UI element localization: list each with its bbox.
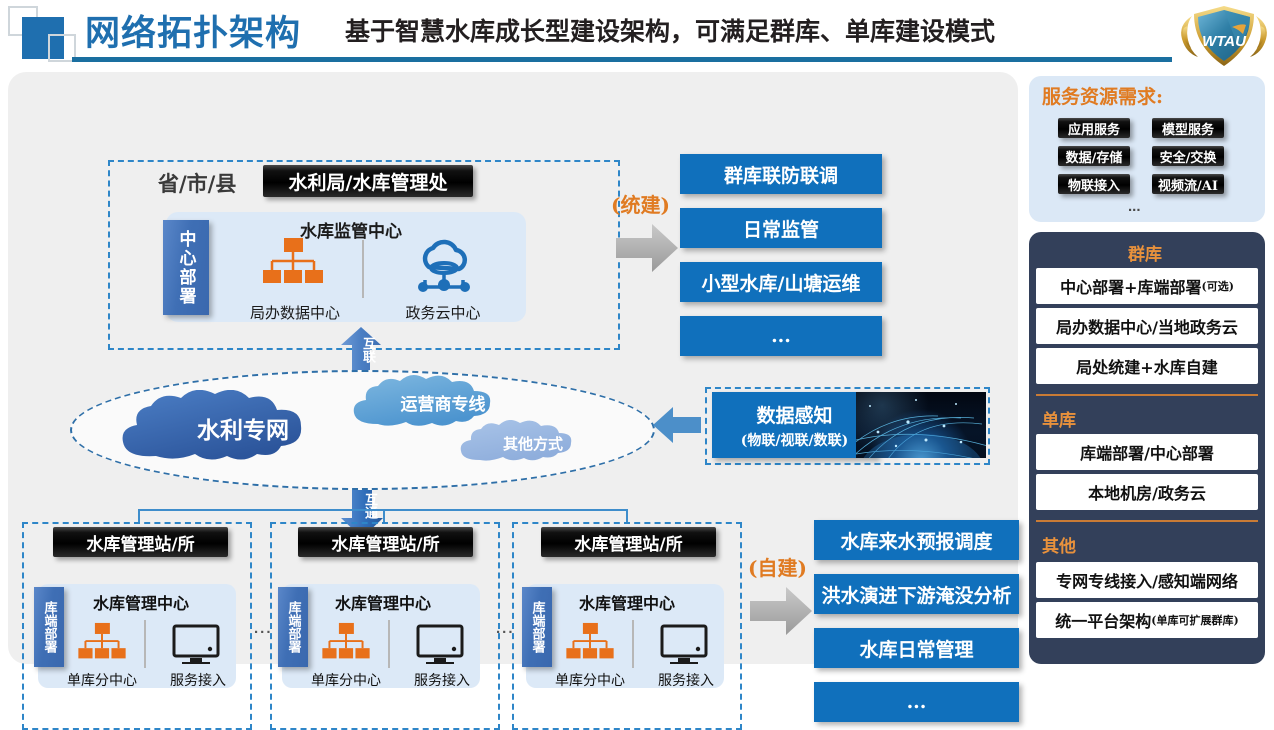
page-header: 网络拓扑架构 基于智慧水库成长型建设架构，可满足群库、单库建设模式 WTAU (0, 0, 1274, 70)
data-flow-arrow-left (653, 407, 701, 443)
mode-group-row-0-text: 中心部署+库端部署 (1060, 274, 1201, 298)
water-bureau-bar: 水利局/水库管理处 (263, 165, 473, 197)
mode-other-row-1-note: (单库可扩展群库) (1151, 612, 1238, 628)
resource-chip-5[interactable]: 视频流/AI (1152, 174, 1224, 194)
center-deployment-tag: 中心部署 (163, 220, 209, 315)
resource-more-dots: ... (1128, 198, 1141, 215)
station-caption-left-3: 单库分中心 (540, 670, 640, 690)
admin-level-label: 省/市/县 (158, 168, 236, 198)
page-title: 网络拓扑架构 (85, 5, 301, 56)
mode-group-row-2-text: 局处统建+水库自建 (1076, 354, 1217, 378)
selfbuilt-item-1[interactable]: 洪水演进下游淹没分析 (814, 574, 1019, 614)
station-caption-right-1: 服务接入 (148, 670, 248, 690)
mode-other-row-1-text: 统一平台架构 (1055, 608, 1151, 632)
globe-network-image (856, 392, 986, 458)
station-deploy-tag-1: 库端部署 (34, 587, 64, 667)
station-divider-2 (388, 620, 390, 668)
station-bar-3: 水库管理站/所 (541, 527, 716, 557)
resource-chip-4[interactable]: 物联接入 (1058, 174, 1130, 194)
station-gap-dots-2: ... (496, 620, 515, 637)
data-sensing-box: 数据感知 (物联/视联/数联) (712, 392, 877, 458)
unified-build-label: (统建) (611, 189, 670, 218)
resource-chip-3[interactable]: 安全/交换 (1152, 146, 1224, 166)
service-access-monitor-icon-1 (172, 624, 220, 666)
service-access-monitor-icon-2 (416, 624, 464, 666)
mode-other-row-0[interactable]: 专网专线接入/感知端网络 (1036, 562, 1258, 598)
mode-group-row-1-text: 局办数据中心/当地政务云 (1056, 314, 1238, 338)
unified-build-arrow (616, 224, 678, 272)
data-sensing-title: 数据感知 (756, 401, 832, 428)
station-caption-left-1: 单库分中心 (52, 670, 152, 690)
station-caption-left-2: 单库分中心 (296, 670, 396, 690)
resource-chip-2[interactable]: 数据/存储 (1058, 146, 1130, 166)
mode-separator-2 (1036, 520, 1258, 522)
mode-separator-1 (1036, 394, 1258, 396)
station-divider-1 (144, 620, 146, 668)
bus-drop-2 (383, 509, 385, 523)
cloud-label-other-mode: 其他方式 (463, 427, 603, 460)
resource-chip-1[interactable]: 模型服务 (1152, 118, 1224, 138)
unified-item-2[interactable]: 小型水库/山塘运维 (680, 262, 882, 302)
selfbuilt-item-2[interactable]: 水库日常管理 (814, 628, 1019, 668)
mode-group-row-1[interactable]: 局办数据中心/当地政务云 (1036, 308, 1258, 344)
mode-group-row-2[interactable]: 局处统建+水库自建 (1036, 348, 1258, 384)
resource-chip-0[interactable]: 应用服务 (1058, 118, 1130, 138)
mode-single-row-0[interactable]: 库端部署/中心部署 (1036, 434, 1258, 470)
station-caption-right-2: 服务接入 (392, 670, 492, 690)
station-title-2: 水库管理中心 (308, 590, 458, 614)
cloud-label-operator-line: 运营商专线 (353, 382, 533, 422)
mode-other-row-0-text: 专网专线接入/感知端网络 (1056, 568, 1238, 592)
station-title-3: 水库管理中心 (552, 590, 702, 614)
unified-item-1[interactable]: 日常监管 (680, 208, 882, 248)
gov-cloud-icon (413, 237, 475, 297)
station-divider-3 (632, 620, 634, 668)
bus-drop-1 (138, 509, 140, 523)
station-deploy-tag-3: 库端部署 (522, 587, 552, 667)
unified-item-3[interactable]: ... (680, 316, 882, 356)
self-build-label: (自建) (748, 552, 807, 581)
station-gap-dots-1: ... (254, 620, 273, 637)
selfbuilt-item-0[interactable]: 水库来水预报调度 (814, 520, 1019, 560)
sub-center-org-icon-1 (76, 622, 128, 668)
logo-text: WTAU (1202, 33, 1247, 50)
mode-heading-other: 其他 (1042, 532, 1076, 557)
page-subtitle: 基于智慧水库成长型建设架构，可满足群库、单库建设模式 (345, 12, 995, 48)
mode-group-row-0[interactable]: 中心部署+库端部署 (可选) (1036, 268, 1258, 304)
station-deploy-tag-2: 库端部署 (278, 587, 308, 667)
mode-single-row-1[interactable]: 本地机房/政务云 (1036, 474, 1258, 510)
supervision-divider (362, 240, 364, 298)
title-divider (72, 57, 1172, 62)
sub-center-org-icon-2 (320, 622, 372, 668)
diagram-canvas: 省/市/县 水利局/水库管理处 水库监管中心 中心部署 局办数据中心 政务云中心… (8, 72, 1018, 664)
interconnect-arrow-label: 互联 (345, 337, 377, 363)
data-sensing-subtitle: (物联/视联/数联) (741, 430, 848, 450)
mode-heading-single: 单库 (1042, 406, 1076, 431)
mode-heading-group: 群库 (1128, 240, 1162, 265)
service-access-monitor-icon-3 (660, 624, 708, 666)
self-build-arrow (750, 587, 812, 635)
data-center-org-icon (260, 237, 326, 295)
station-bar-2: 水库管理站/所 (298, 527, 473, 557)
unified-item-0[interactable]: 群库联防联调 (680, 154, 882, 194)
intercommunicate-arrow-label: 互通 (345, 493, 379, 519)
mode-single-row-1-text: 本地机房/政务云 (1088, 480, 1206, 504)
service-resource-title: 服务资源需求: (1042, 82, 1163, 109)
selfbuilt-item-3[interactable]: ... (814, 682, 1019, 722)
station-caption-right-3: 服务接入 (636, 670, 736, 690)
caption-bureau-data-center: 局办数据中心 (230, 302, 360, 323)
cloud-label-water-network: 水利专网 (118, 397, 368, 459)
station-title-1: 水库管理中心 (66, 590, 216, 614)
mode-other-row-1[interactable]: 统一平台架构 (单库可扩展群库) (1036, 602, 1258, 638)
bus-drop-3 (626, 509, 628, 523)
wtau-shield-logo: WTAU (1176, 2, 1272, 70)
mode-single-row-0-text: 库端部署/中心部署 (1080, 440, 1214, 464)
sub-center-org-icon-3 (564, 622, 616, 668)
caption-gov-cloud-center: 政务云中心 (378, 302, 508, 323)
mode-group-row-0-note: (可选) (1202, 278, 1234, 294)
logo-mark-icon (8, 6, 76, 58)
station-bar-1: 水库管理站/所 (53, 527, 228, 557)
